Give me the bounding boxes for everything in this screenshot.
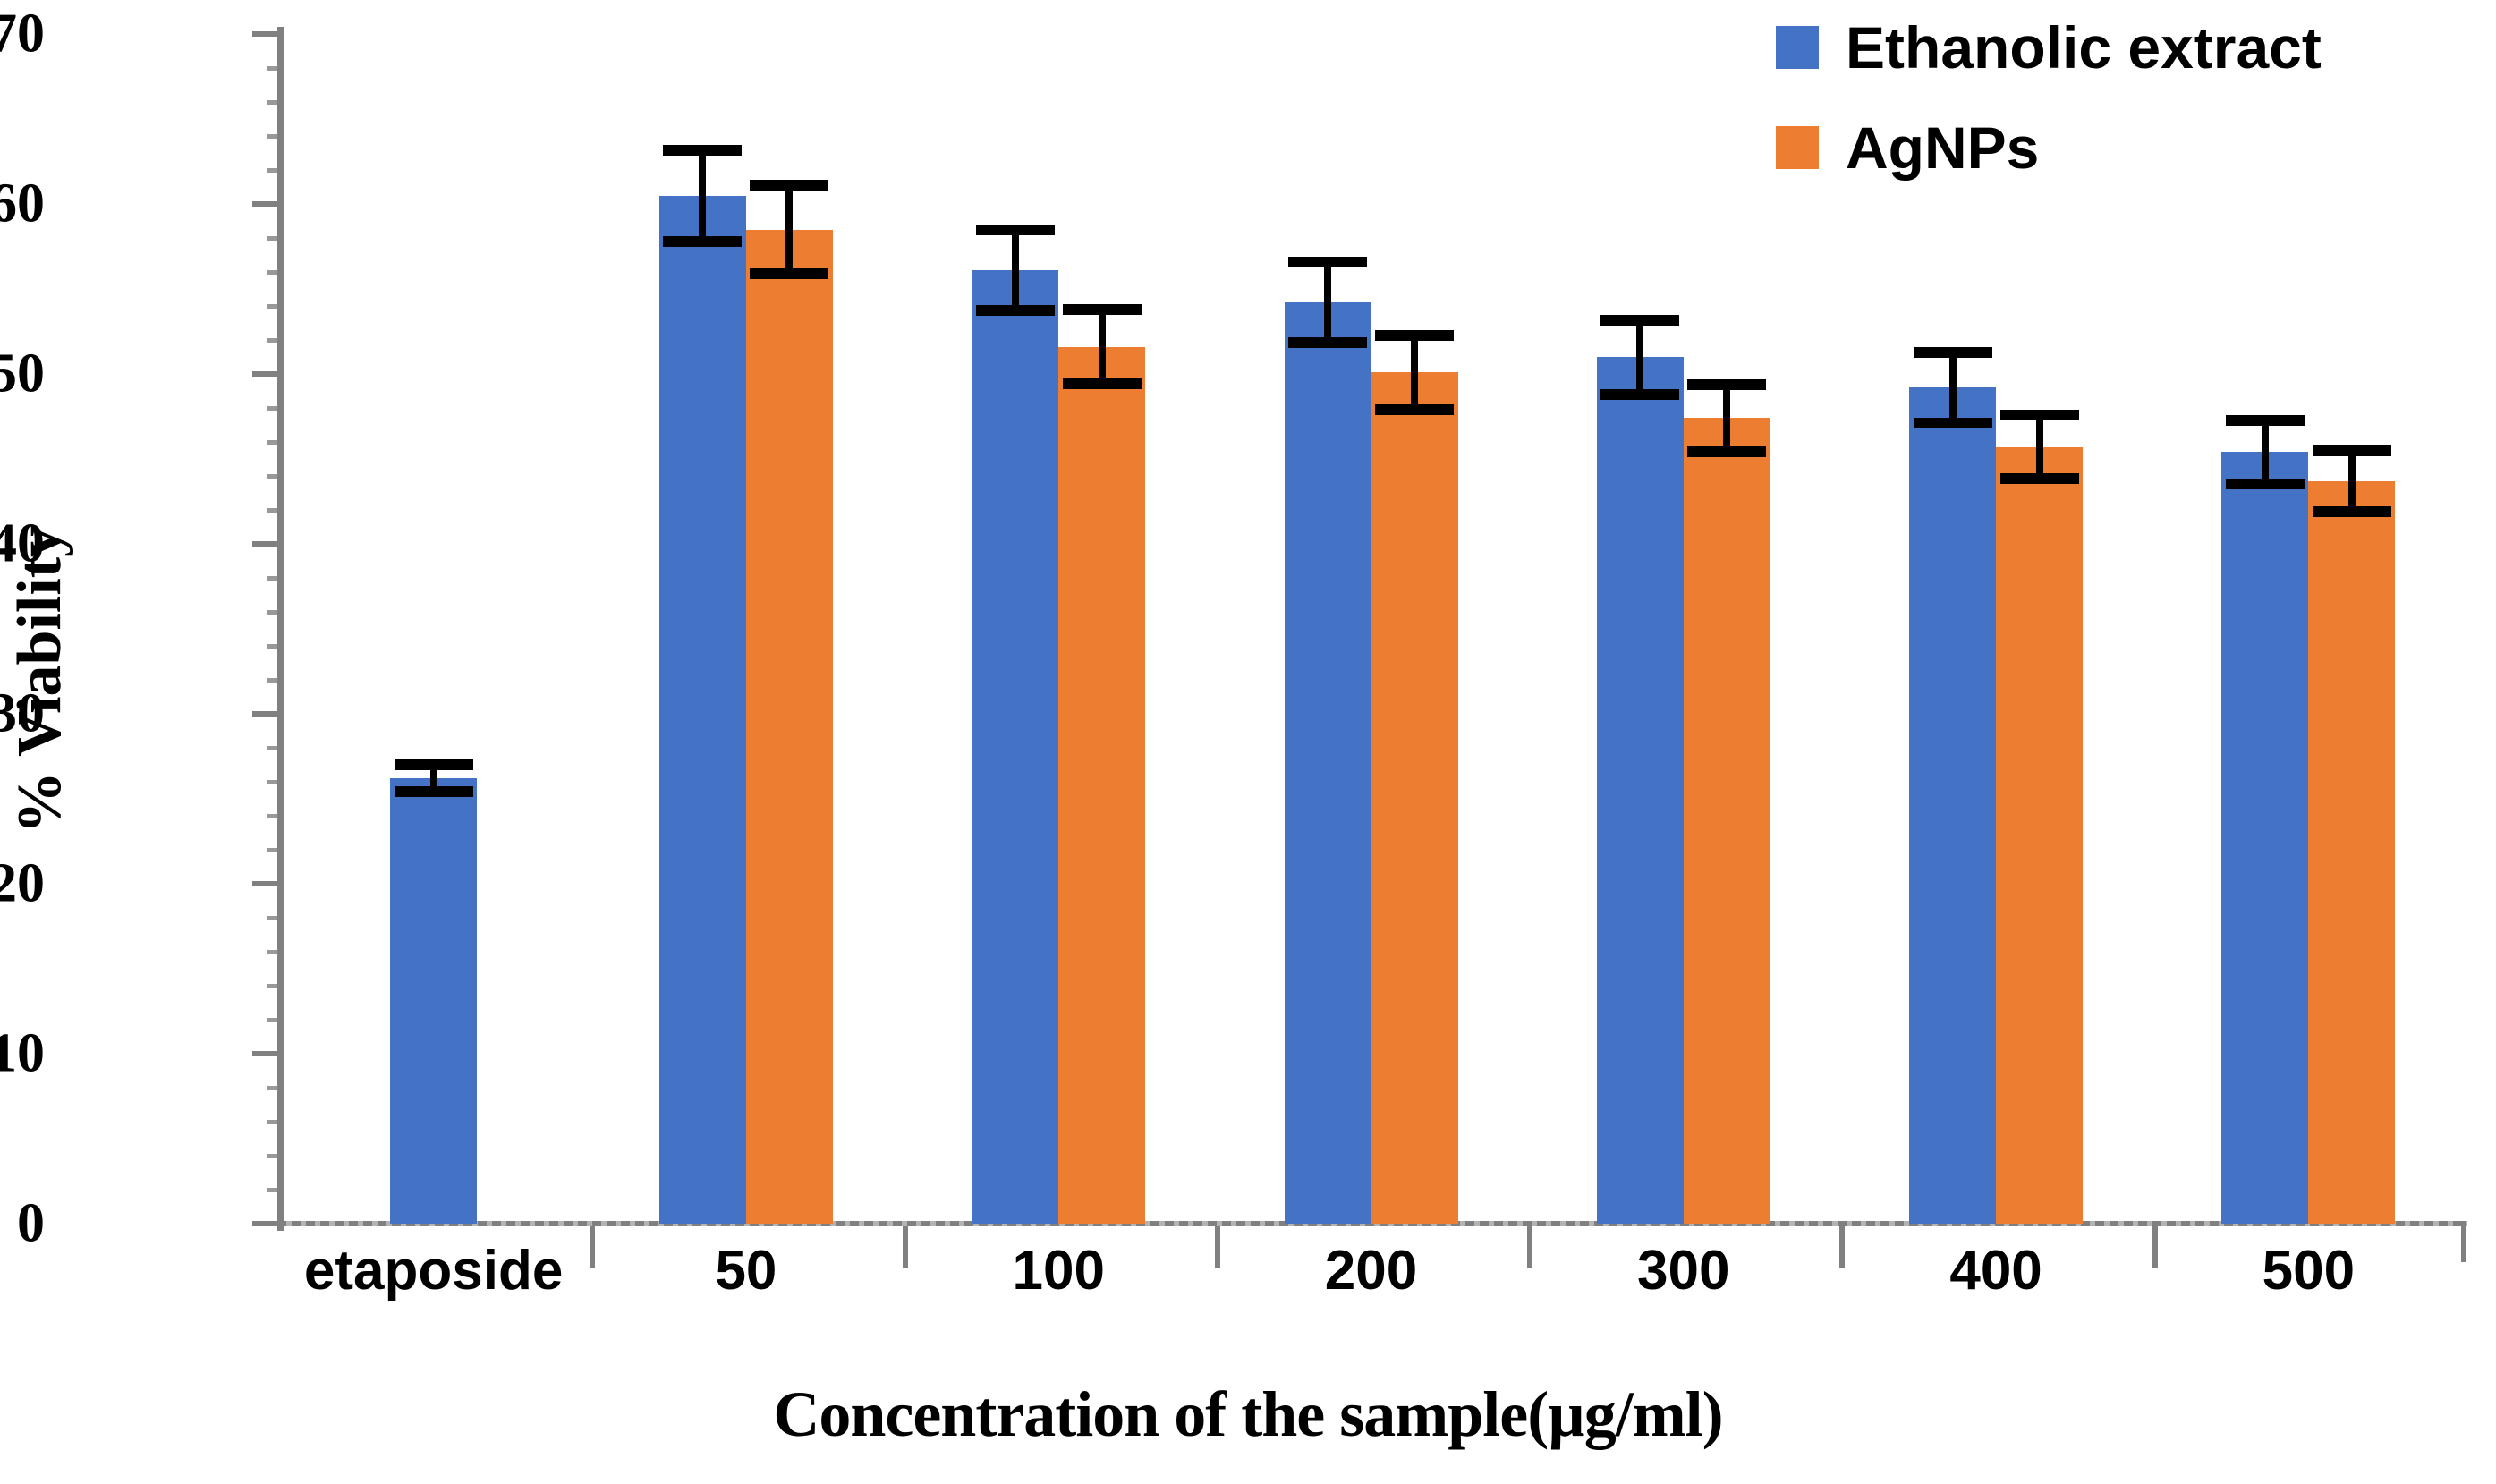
bar-500-series-2 (2308, 481, 2395, 1224)
y-axis-tick-label-50: 50 (0, 343, 45, 406)
error-bar-cap-upper (2313, 445, 2391, 456)
error-bar-cap-upper (1288, 257, 1367, 267)
x-axis-separator (1839, 1226, 1845, 1268)
y-axis-tick-label-60: 60 (0, 173, 45, 236)
y-axis-tick-0 (252, 1221, 277, 1226)
bar-200-series-1 (1285, 302, 1371, 1224)
error-bar-cap-upper (1063, 304, 1142, 315)
bar-100-series-2 (1058, 347, 1145, 1224)
x-axis-label-200: 200 (1325, 1239, 1417, 1302)
y-axis-tick-label-70: 70 (0, 3, 45, 66)
y-axis-minor-tick (267, 814, 277, 818)
bar-50-series-2 (746, 230, 833, 1225)
bar-etaposide-series-1 (390, 778, 477, 1224)
error-bar-cap-upper (1687, 379, 1766, 390)
y-axis-tick-10 (252, 1051, 277, 1056)
y-axis-minor-tick (267, 950, 277, 954)
bar-400-series-2 (1996, 447, 2083, 1224)
x-axis-title: Concentration of the sample(µg/ml) (0, 1378, 2496, 1452)
y-axis-minor-tick (267, 270, 277, 275)
y-axis-minor-tick (267, 780, 277, 784)
x-axis-label-etaposide: etaposide (304, 1239, 563, 1302)
error-bar-cap-upper (395, 759, 473, 770)
bar-chart: 010203040506070 etaposide501002003004005… (0, 0, 2496, 1484)
y-axis-minor-tick (267, 1188, 277, 1192)
x-axis-separator (1527, 1226, 1532, 1268)
bar-200-series-2 (1371, 372, 1458, 1224)
y-axis-minor-tick (267, 168, 277, 173)
y-axis-minor-tick (267, 134, 277, 139)
y-axis-minor-tick (267, 610, 277, 615)
y-axis-minor-tick (267, 406, 277, 411)
error-bar-cap-upper (1600, 315, 1679, 326)
y-axis-minor-tick (267, 440, 277, 445)
error-bar-cap-upper (1375, 330, 1454, 341)
x-axis-label-500: 500 (2263, 1239, 2355, 1302)
y-axis-minor-tick (267, 304, 277, 309)
y-axis-minor-tick (267, 100, 277, 105)
x-axis-separator (590, 1226, 595, 1268)
y-axis-minor-tick (267, 236, 277, 241)
y-axis-tick-60 (252, 201, 277, 207)
legend-label-agnps: AgNPs (1846, 114, 2039, 182)
y-axis-minor-tick (267, 678, 277, 683)
error-bar-cap-upper (2000, 410, 2079, 420)
y-axis-minor-tick (267, 1018, 277, 1022)
y-axis-tick-label-0: 0 (0, 1192, 45, 1256)
y-axis-minor-tick (267, 66, 277, 71)
error-bar-cap-upper (1914, 347, 1992, 358)
y-axis-minor-tick (267, 576, 277, 581)
x-axis-label-300: 300 (1637, 1239, 1729, 1302)
x-axis-right-cap (2461, 1221, 2466, 1262)
error-bar-cap-upper (750, 180, 828, 191)
legend-swatch-icon-agnps (1776, 126, 1819, 169)
y-axis-tick-30 (252, 711, 277, 717)
y-axis-minor-tick (267, 1120, 277, 1124)
y-axis-minor-tick (267, 1154, 277, 1158)
error-bar-cap-upper (663, 145, 742, 156)
x-axis-separator (2152, 1226, 2158, 1268)
chart-legend: Ethanolic extract AgNPs (1776, 13, 2322, 214)
x-axis-separator (903, 1226, 908, 1268)
y-axis-tick-label-10: 10 (0, 1022, 45, 1086)
y-axis-minor-tick (267, 508, 277, 513)
legend-label-ethanolic-extract: Ethanolic extract (1846, 13, 2322, 81)
y-axis-minor-tick (267, 848, 277, 852)
bar-100-series-1 (972, 270, 1058, 1224)
x-axis-label-100: 100 (1012, 1239, 1104, 1302)
y-axis-tick-40 (252, 541, 277, 547)
bar-500-series-1 (2221, 452, 2308, 1224)
y-axis-title: % Viability (4, 411, 76, 948)
bar-300-series-2 (1684, 418, 1770, 1224)
bar-50-series-1 (659, 196, 746, 1225)
y-axis-minor-tick (267, 984, 277, 988)
x-axis-label-400: 400 (1949, 1239, 2042, 1302)
error-bar-cap-upper (976, 225, 1055, 235)
y-axis-minor-tick (267, 474, 277, 479)
y-axis-minor-tick (267, 644, 277, 649)
error-bar-cap-upper (2226, 415, 2305, 426)
x-axis-separator (1215, 1226, 1220, 1268)
y-axis-tick-70 (252, 31, 277, 37)
y-axis-minor-tick (267, 338, 277, 343)
legend-item-ethanolic-extract: Ethanolic extract (1776, 13, 2322, 81)
y-axis-tick-50 (252, 371, 277, 377)
legend-item-agnps: AgNPs (1776, 114, 2322, 182)
legend-swatch-icon-ethanolic-extract (1776, 26, 1819, 69)
bar-400-series-1 (1909, 387, 1996, 1224)
y-axis-minor-tick (267, 746, 277, 750)
y-axis-minor-tick (267, 1086, 277, 1090)
y-axis-tick-20 (252, 881, 277, 886)
x-axis-label-50: 50 (715, 1239, 777, 1302)
y-axis-minor-tick (267, 916, 277, 920)
bar-300-series-1 (1597, 357, 1684, 1224)
